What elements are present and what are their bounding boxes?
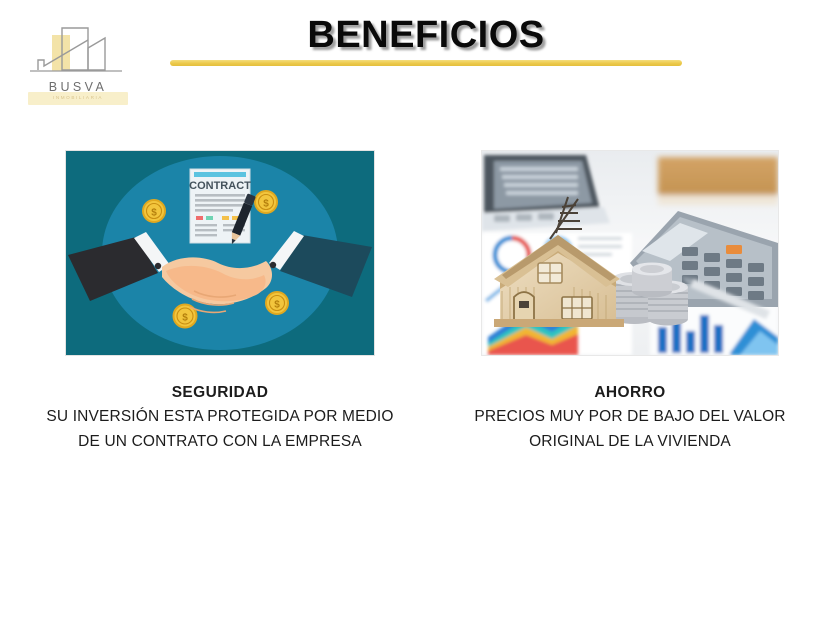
svg-text:$: $	[274, 300, 280, 311]
benefit-caption-ahorro: AHORRO PRECIOS MUY POR DE BAJO DEL VALOR…	[440, 383, 820, 455]
page-title: BENEFICIOS	[170, 16, 682, 54]
benefit-body: SU INVERSIÓN ESTA PROTEGIDA POR MEDIO DE…	[20, 404, 420, 454]
brand-logo: BUSVA INMOBILIARIA	[22, 24, 134, 108]
building-outline-icon	[22, 24, 134, 82]
wooden-house-coins-calculator-photo	[481, 150, 779, 356]
benefit-heading: AHORRO	[440, 383, 820, 402]
benefit-caption-seguridad: SEGURIDAD SU INVERSIÓN ESTA PROTEGIDA PO…	[20, 383, 420, 455]
benefit-heading: SEGURIDAD	[20, 383, 420, 402]
logo-tagline: INMOBILIARIA	[22, 95, 134, 100]
logo-wordmark: BUSVA	[22, 80, 134, 94]
benefit-column-seguridad: $ $ $ $	[20, 150, 420, 455]
benefit-column-ahorro: AHORRO PRECIOS MUY POR DE BAJO DEL VALOR…	[440, 150, 820, 455]
benefit-body: PRECIOS MUY POR DE BAJO DEL VALOR ORIGIN…	[440, 404, 820, 454]
slide-root: BUSVA INMOBILIARIA BENEFICIOS $ $	[0, 0, 840, 630]
svg-text:$: $	[151, 208, 157, 219]
svg-text:$: $	[263, 199, 269, 210]
svg-text:CONTRACT: CONTRACT	[189, 180, 251, 192]
svg-text:$: $	[182, 313, 188, 324]
handshake-contract-illustration: $ $ $ $	[65, 150, 375, 356]
title-underline-rule	[170, 60, 682, 66]
